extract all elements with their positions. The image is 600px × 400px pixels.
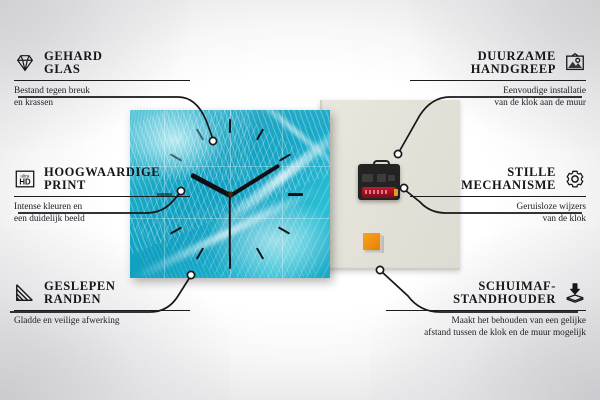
divider [386,310,586,311]
feature-title-line: MECHANISME [461,179,556,192]
battery-label [365,190,389,194]
desc-line: een duidelijk beeld [14,213,190,225]
feature-hoogwaardige-print[interactable]: ultra HD HOOGWAARDIGE PRINT Intense kleu… [14,166,190,225]
movement-body [358,164,400,200]
movement-slot [377,174,386,182]
foam-spacer-icon [564,282,586,304]
desc-line: Gladde en veilige afwerking [14,315,190,327]
divider [14,310,190,311]
desc-line: Bestand tegen breuk [14,85,190,97]
divider [14,80,190,81]
desc-line: Maakt het behouden van een gelijke [386,315,586,327]
desc-line: van de klok [410,213,586,225]
feature-title-line: STANDHOUDER [453,293,556,306]
desc-line: en krassen [14,97,190,109]
foam-spacer-side [380,236,384,253]
hour-marker-12 [229,119,231,133]
feature-geslepen-randen[interactable]: GESLEPEN RANDEN Gladde en veilige afwerk… [14,280,190,327]
infographic-canvas: GEHARD GLAS Bestand tegen breuk en krass… [0,0,600,400]
feature-duurzame-handgreep[interactable]: DUURZAME HANDGREEP Eenvoudige installati… [410,50,586,109]
feature-description: Maakt het behouden van een gelijke afsta… [386,315,586,339]
foam-spacer [363,233,380,250]
divider [410,196,586,197]
back-panel-bottom-edge [320,267,460,270]
picture-frame-icon [564,52,586,74]
feature-title-line: HANDGREEP [471,63,556,76]
battery-positive-terminal [394,189,398,196]
feature-description: Eenvoudige installatie van de klok aan d… [410,85,586,109]
gear-icon [564,168,586,190]
hour-marker-3 [288,193,303,196]
divider [14,196,190,197]
diamond-icon [14,52,36,74]
desc-line: afstand tussen de klok en de muur mogeli… [386,327,586,339]
feature-description: Geruisloze wijzers van de klok [410,201,586,225]
battery [362,187,396,198]
clock-center-pin [228,192,233,197]
desc-line: Geruisloze wijzers [410,201,586,213]
feature-title-line: GLAS [44,63,80,76]
hour-marker-6 [229,255,231,269]
movement-slot [388,175,395,181]
desc-line: van de klok aan de muur [410,97,586,109]
feature-schuimafstandhouder[interactable]: SCHUIMAF- STANDHOUDER Maakt het behouden… [386,280,586,339]
ultra-hd-icon: ultra HD [14,168,36,190]
feature-title-line: RANDEN [44,293,101,306]
second-hand [229,195,231,257]
beveled-edge-icon [14,282,36,304]
feature-description: Gladde en veilige afwerking [14,315,190,327]
quartz-movement [358,160,400,200]
movement-slot [362,174,373,182]
feature-description: Intense kleuren en een duidelijk beeld [14,201,190,225]
divider [410,80,586,81]
feature-description: Bestand tegen breuk en krassen [14,85,190,109]
desc-line: Intense kleuren en [14,201,190,213]
feature-stille-mechanisme[interactable]: STILLE MECHANISME Geruisloze wijzers van… [410,166,586,225]
feature-gehard-glas[interactable]: GEHARD GLAS Bestand tegen breuk en krass… [14,50,190,109]
desc-line: Eenvoudige installatie [410,85,586,97]
feature-title-line: PRINT [44,179,86,192]
svg-text:HD: HD [19,178,31,187]
